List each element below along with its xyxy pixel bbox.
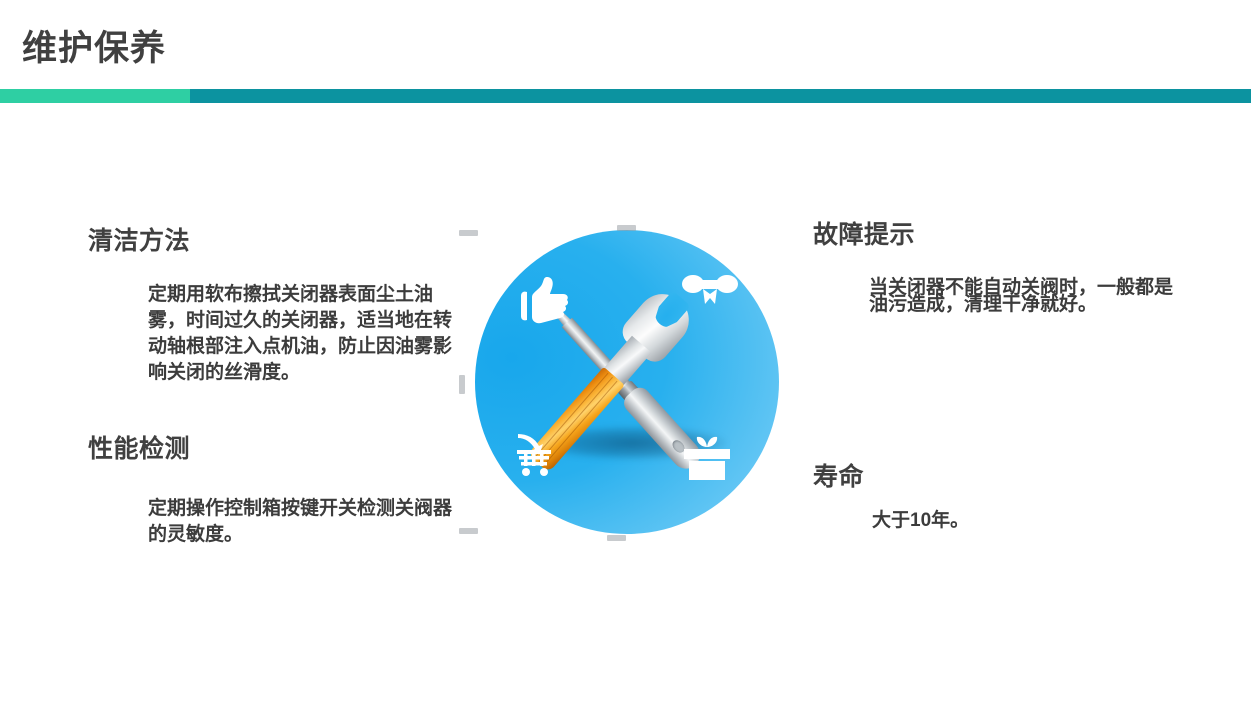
section-body-performance: 定期操作控制箱按键开关检测关阀器的灵敏度。	[148, 496, 466, 548]
blue-circle-background	[475, 230, 779, 534]
shopping-cart-icon	[515, 432, 567, 476]
section-body-cleaning: 定期用软布擦拭关闭器表面尘土油雾，时间过久的关闭器，适当地在转动轴根部注入点机油…	[148, 282, 466, 386]
selection-handle-bottom[interactable]	[607, 535, 626, 541]
selection-handle-bottom-left[interactable]	[459, 528, 478, 534]
section-body-fault: 当关闭器不能自动关阀时，一般都是油污造成，清理干净就好。	[869, 279, 1174, 313]
tools-badge-image[interactable]	[464, 228, 792, 540]
section-heading-lifespan: 寿命	[813, 457, 864, 493]
accent-bar-right-segment	[190, 89, 1251, 103]
section-heading-cleaning: 清洁方法	[88, 221, 190, 257]
selection-handle-top[interactable]	[617, 225, 636, 231]
gift-box-icon	[683, 435, 731, 481]
accent-bar-left-segment	[0, 89, 190, 103]
bow-ribbon-icon	[681, 273, 739, 313]
selection-handle-top-left[interactable]	[459, 230, 478, 236]
thumbs-up-icon	[519, 276, 569, 328]
page-title: 维护保养	[22, 28, 166, 70]
section-heading-performance: 性能检测	[88, 429, 190, 465]
accent-bar	[0, 89, 1251, 103]
selection-handle-left[interactable]	[459, 375, 465, 394]
section-body-lifespan: 大于10年。	[872, 508, 1177, 534]
section-heading-fault: 故障提示	[813, 215, 915, 251]
